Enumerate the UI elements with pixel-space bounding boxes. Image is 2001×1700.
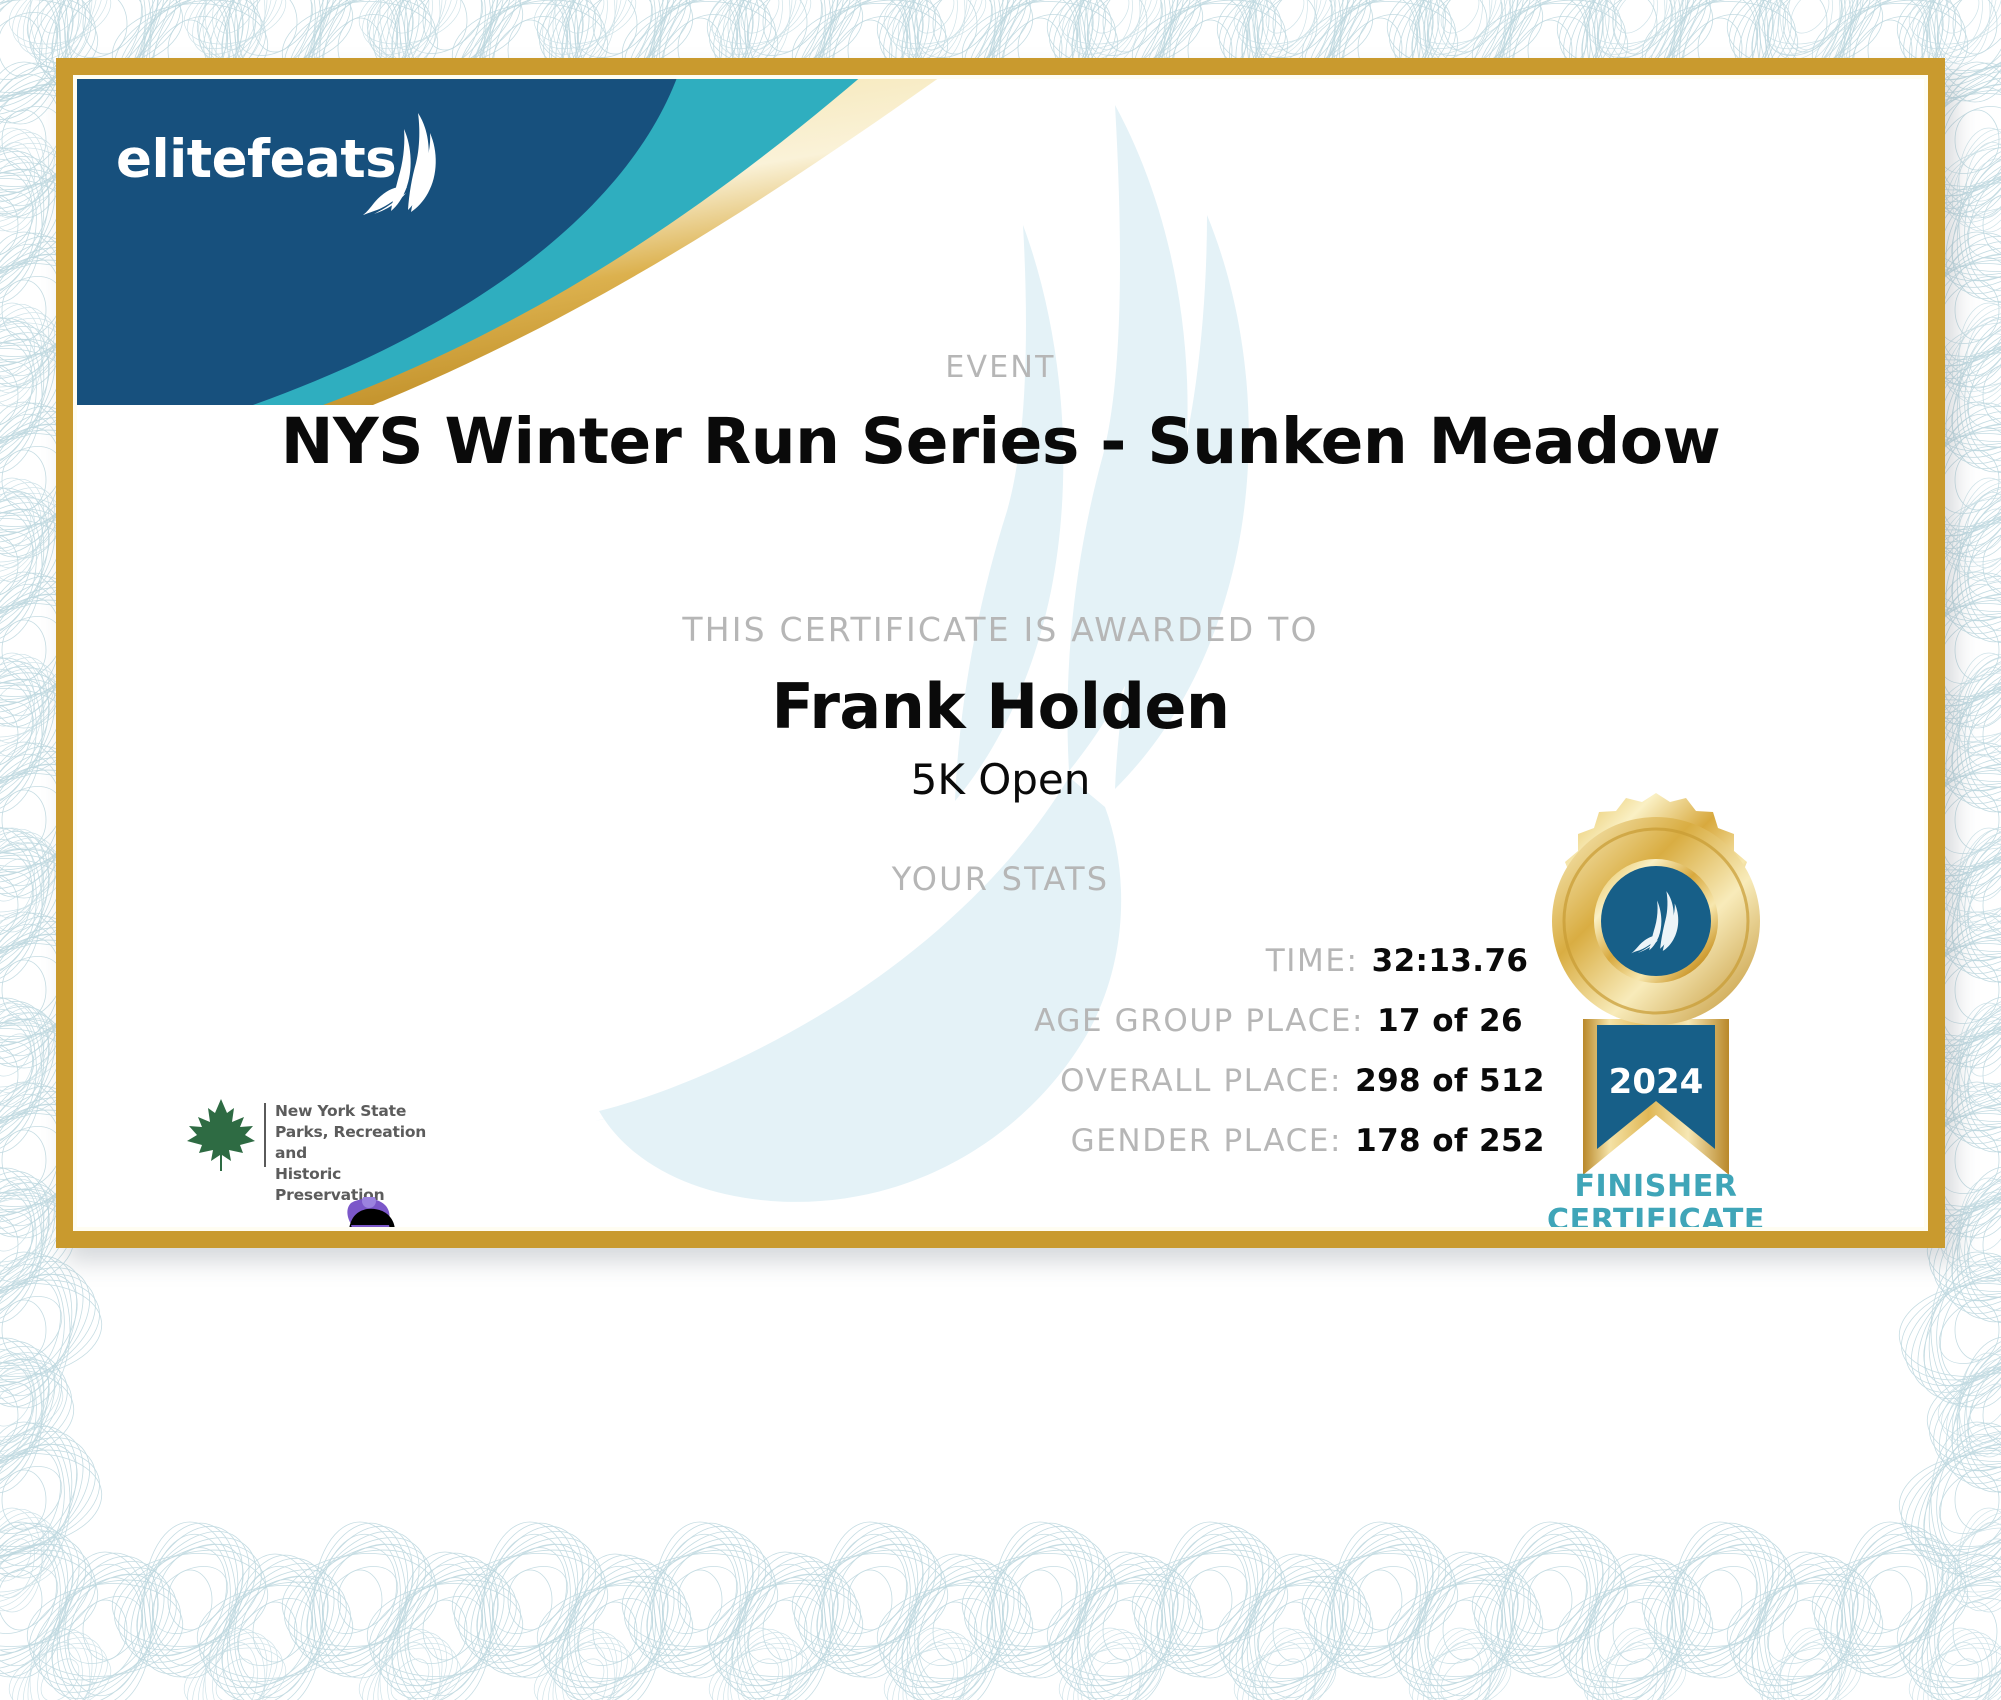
stat-label: AGE GROUP PLACE: bbox=[478, 1003, 1364, 1039]
certificate-page: elitefeats EVENT NYS Winter Run Series -… bbox=[0, 0, 2001, 1700]
stat-value: 178 of 252 bbox=[1342, 1123, 1545, 1159]
finisher-medal-badge: 2024 bbox=[1521, 793, 1791, 1193]
badge-year: 2024 bbox=[1609, 1062, 1704, 1102]
stat-label: GENDER PLACE: bbox=[456, 1123, 1342, 1159]
event-title: NYS Winter Run Series - Sunken Meadow bbox=[73, 405, 1928, 478]
stat-value: 298 of 512 bbox=[1342, 1063, 1545, 1099]
stat-value: 17 of 26 bbox=[1364, 1003, 1523, 1039]
logo-divider bbox=[264, 1103, 266, 1167]
finisher-certificate-caption: FINISHER CERTIFICATE bbox=[1493, 1170, 1819, 1231]
stat-value: 32:13.76 bbox=[1359, 943, 1529, 979]
stat-label: TIME: bbox=[473, 943, 1359, 979]
maple-leaf-icon bbox=[185, 1097, 257, 1175]
running-figure-icon bbox=[255, 1197, 435, 1231]
recipient-name: Frank Holden bbox=[73, 670, 1928, 743]
event-label: EVENT bbox=[73, 350, 1928, 385]
elitefeats-logo: elitefeats bbox=[116, 123, 446, 213]
stat-label: OVERALL PLACE: bbox=[456, 1063, 1342, 1099]
certificate-frame: elitefeats EVENT NYS Winter Run Series -… bbox=[56, 58, 1945, 1248]
nys-parks-logo: New York State Parks, Recreation and His… bbox=[185, 1097, 445, 1177]
nys-parks-agency-name: New York State Parks, Recreation and His… bbox=[275, 1101, 445, 1206]
winter-run-series-logo: 2024 bbox=[155, 1197, 455, 1231]
awarded-to-label: THIS CERTIFICATE IS AWARDED TO bbox=[73, 610, 1928, 649]
certificate-canvas: elitefeats EVENT NYS Winter Run Series -… bbox=[73, 75, 1928, 1231]
brand-wordmark: elitefeats bbox=[116, 133, 396, 186]
winged-foot-icon bbox=[362, 111, 442, 216]
